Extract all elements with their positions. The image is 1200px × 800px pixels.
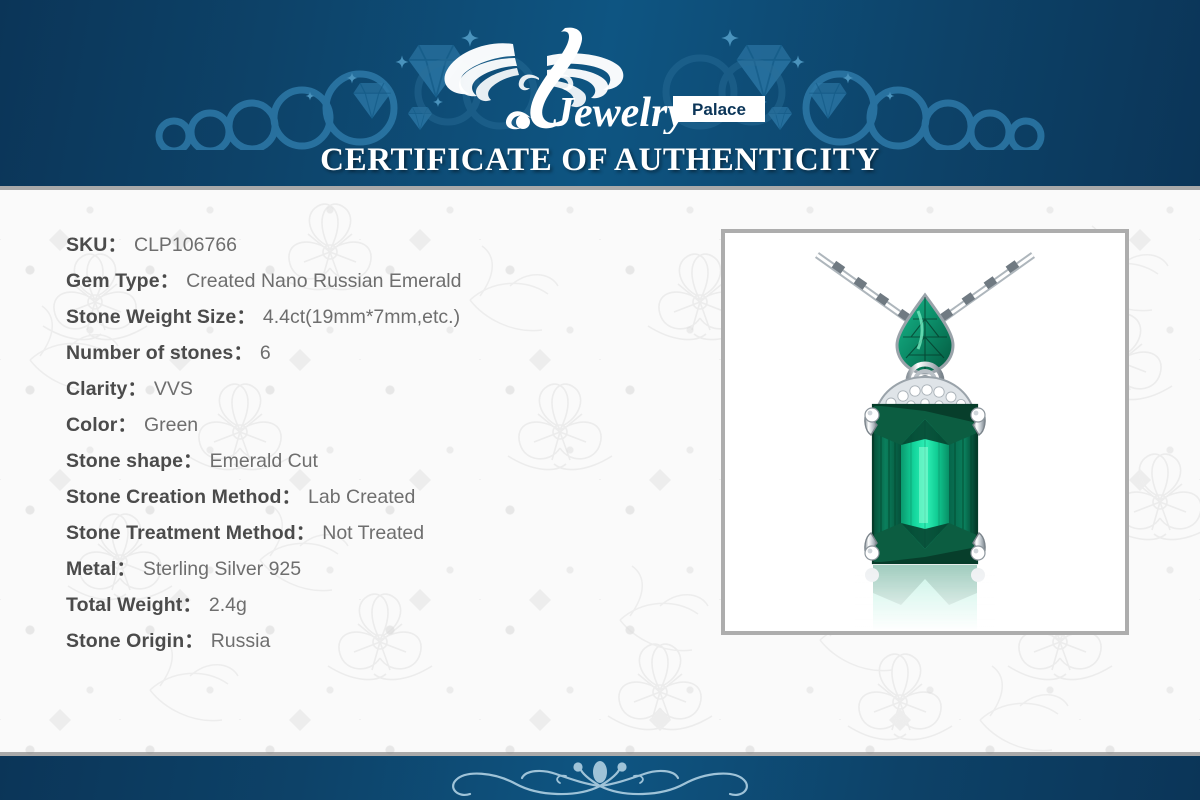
spec-value: CLP106766 [134,234,237,256]
brand-badge: Palace [673,96,765,122]
spec-label: Clarity [66,378,127,400]
spec-colon: ： [236,306,256,328]
spec-value: Created Nano Russian Emerald [186,270,461,292]
certificate-footer [0,756,1200,800]
spec-colon: ： [160,270,180,292]
spec-colon: ： [296,522,316,544]
spec-value: Green [144,414,198,436]
spec-label: Stone Origin [66,630,184,652]
specification-list: SKU：CLP106766 Gem Type：Created Nano Russ… [66,227,686,659]
spec-row: Metal：Sterling Silver 925 [66,551,686,587]
spec-colon: ： [184,630,204,652]
spec-row: Stone shape：Emerald Cut [66,443,686,479]
spec-label: Number of stones [66,342,233,364]
product-photo-pendant [725,233,1125,631]
spec-label: Stone Creation Method [66,486,282,508]
spec-label: Stone Weight Size [66,306,236,328]
spec-colon: ： [116,558,136,580]
spec-row: Color：Green [66,407,686,443]
spec-label: Stone shape [66,450,183,472]
spec-colon: ： [183,450,203,472]
spec-value: VVS [154,378,193,400]
spec-row: Clarity：VVS [66,371,686,407]
spec-value: Not Treated [322,522,424,544]
flourish-ornament-icon [370,756,830,800]
spec-row: Number of stones：6 [66,335,686,371]
spec-row: SKU：CLP106766 [66,227,686,263]
spec-label: SKU [66,234,107,256]
spec-row: Stone Creation Method：Lab Created [66,479,686,515]
page-title: CERTIFICATE OF AUTHENTICITY [0,142,1200,179]
spec-row: Gem Type：Created Nano Russian Emerald [66,263,686,299]
spec-label: Stone Treatment Method [66,522,296,544]
brand-badge-text: Palace [692,100,746,119]
spec-label: Color [66,414,117,436]
certificate-header: Jewelry Palace CERTIFICATE OF AUTHENTICI… [0,0,1200,186]
spec-label: Gem Type [66,270,160,292]
product-image-frame [721,229,1129,635]
spec-value: 4.4ct(19mm*7mm,etc.) [263,306,460,328]
spec-colon: ： [182,594,202,616]
spec-row: Total Weight：2.4g [66,587,686,623]
emerald-cut-gemstone [873,405,977,563]
spec-value: Russia [211,630,271,652]
spec-colon: ： [127,378,147,400]
spec-row: Stone Origin：Russia [66,623,686,659]
spec-row: Stone Treatment Method：Not Treated [66,515,686,551]
spec-value: 6 [260,342,271,364]
spec-colon: ： [282,486,302,508]
brand-script-text: Jewelry [552,90,686,134]
spec-label: Total Weight [66,594,182,616]
header-divider [0,186,1200,190]
certificate-page: Jewelry Palace CERTIFICATE OF AUTHENTICI… [0,0,1200,800]
jewelry-palace-logo-icon: Jewelry [435,22,705,134]
spec-colon: ： [107,234,127,256]
spec-colon: ： [117,414,137,436]
brand-logo: Jewelry Palace [0,22,1200,134]
spec-value: Emerald Cut [210,450,318,472]
gem-reflection [855,565,995,631]
spec-label: Metal [66,558,116,580]
spec-value: Lab Created [308,486,415,508]
spec-value: 2.4g [209,594,247,616]
spec-value: Sterling Silver 925 [143,558,301,580]
spec-row: Stone Weight Size：4.4ct(19mm*7mm,etc.) [66,299,686,335]
spec-colon: ： [233,342,253,364]
